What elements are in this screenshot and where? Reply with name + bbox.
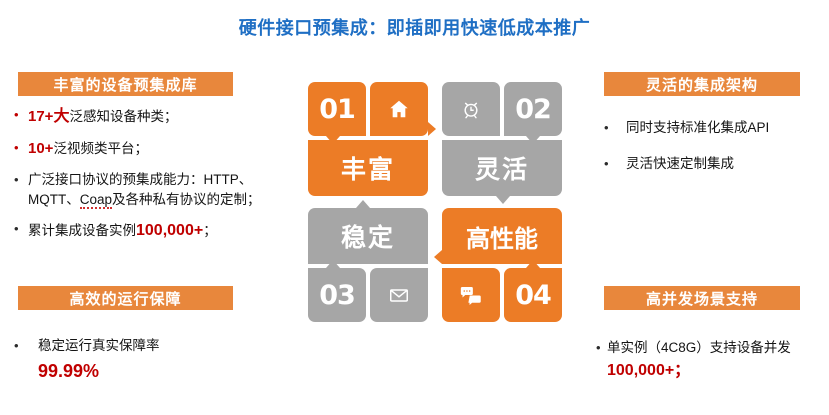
list-item: • 灵活快速定制集成 <box>604 154 824 174</box>
quadrant-02-label-tail <box>496 196 510 204</box>
bullet-marker: • <box>14 219 28 239</box>
list-item: • 单实例（4C8G）支持设备并发100,000+； <box>596 338 828 384</box>
quadrant-01-icon-tail <box>428 122 436 136</box>
quadrant-01-icon-box <box>370 82 428 136</box>
bullet-part: 及各种私有协议的定制； <box>112 192 261 207</box>
quadrant-02-number: 02 <box>515 94 551 125</box>
quadrant-04-icon-box <box>442 268 500 322</box>
center-diagram: 01 丰富 <box>300 82 572 322</box>
panel-header-bottom-left: 高效的运行保障 <box>18 286 233 310</box>
chat-bubbles-icon <box>460 285 482 305</box>
quadrant-04-label-tail <box>434 250 442 264</box>
bullet-part: 累计集成设备实例 <box>28 223 136 238</box>
quadrant-04-label: 高性能 <box>466 219 538 254</box>
bullet-part-misspelled: Coap <box>80 192 112 209</box>
quadrant-04-number-box: 04 <box>504 268 562 322</box>
panel-header-bottom-right: 高并发场景支持 <box>604 286 800 310</box>
quadrant-04-number-tail <box>526 260 540 268</box>
bullet-part: 泛感知设备种类； <box>69 109 177 124</box>
bullet-part: 100,000+ <box>136 222 203 239</box>
bullet-marker: • <box>604 118 626 138</box>
page-title: 硬件接口预集成：即插即用快速低成本推广 <box>0 14 829 40</box>
list-item: • 稳定运行真实保障率99.99% <box>14 336 286 385</box>
bullet-part: 泛视频类平台； <box>53 141 148 156</box>
bullet-marker: • <box>596 338 607 358</box>
bullet-part: 大 <box>53 108 69 125</box>
stat-value: 99.99% <box>38 358 286 385</box>
quadrant-03-number: 03 <box>319 280 355 311</box>
quadrant-02-label: 灵活 <box>475 150 529 186</box>
list-item: • 同时支持标准化集成API <box>604 118 824 138</box>
quadrant-01-number-box: 01 <box>308 82 366 136</box>
bullet-marker: • <box>604 154 626 174</box>
envelope-icon <box>388 284 410 306</box>
list-item: • 17+大泛感知设备种类； <box>14 105 286 129</box>
bullet-text: 累计集成设备实例100,000+； <box>28 219 286 243</box>
list-item: • 累计集成设备实例100,000+； <box>14 219 286 243</box>
bullet-part: 100,000+； <box>607 362 690 379</box>
bullet-marker: • <box>14 170 28 190</box>
bullet-list-top-right: • 同时支持标准化集成API • 灵活快速定制集成 <box>604 118 824 184</box>
bullet-text: 10+泛视频类平台； <box>28 138 286 161</box>
bullet-marker: • <box>14 105 28 125</box>
bullet-list-bottom-right: • 单实例（4C8G）支持设备并发100,000+； <box>596 338 828 393</box>
quadrant-03-label: 稳定 <box>341 218 395 254</box>
bullet-text: 单实例（4C8G）支持设备并发100,000+； <box>607 338 828 384</box>
quadrant-02-icon-box <box>442 82 500 136</box>
bullet-part: 单实例（4C8G）支持设备并发 <box>607 340 791 355</box>
bullet-list-bottom-left: • 稳定运行真实保障率99.99% <box>14 336 286 394</box>
slide-canvas: 硬件接口预集成：即插即用快速低成本推广 丰富的设备预集成库 • 17+大泛感知设… <box>0 0 829 415</box>
quadrant-03-label-box: 稳定 <box>308 208 428 264</box>
quadrant-01-label: 丰富 <box>341 150 395 186</box>
quadrant-03-label-tail <box>356 200 370 208</box>
quadrant-04-label-box: 高性能 <box>442 208 562 264</box>
list-item: • 10+泛视频类平台； <box>14 138 286 161</box>
bullet-text: 17+大泛感知设备种类； <box>28 105 286 129</box>
panel-header-top-right: 灵活的集成架构 <box>604 72 800 96</box>
quadrant-02-label-box: 灵活 <box>442 140 562 196</box>
bullet-part: 稳定运行真实保障率 <box>38 338 160 353</box>
bullet-text: 广泛接口协议的预集成能力：HTTP、MQTT、Coap及各种私有协议的定制； <box>28 170 286 211</box>
bullet-marker: • <box>14 336 38 356</box>
quadrant-04-number: 04 <box>515 280 551 311</box>
bullet-text: 稳定运行真实保障率99.99% <box>38 336 286 385</box>
bullet-part: ； <box>203 223 217 238</box>
bullet-part: 10+ <box>28 140 53 157</box>
list-item: • 广泛接口协议的预集成能力：HTTP、MQTT、Coap及各种私有协议的定制； <box>14 170 286 211</box>
panel-header-top-left: 丰富的设备预集成库 <box>18 72 233 96</box>
bullet-text: 同时支持标准化集成API <box>626 118 824 138</box>
alarm-clock-icon <box>461 99 481 119</box>
quadrant-01-number: 01 <box>319 94 355 125</box>
bullet-text: 灵活快速定制集成 <box>626 154 824 174</box>
home-icon <box>388 98 410 120</box>
quadrant-03-number-tail <box>326 260 340 268</box>
quadrant-02-number-box: 02 <box>504 82 562 136</box>
quadrant-03-icon-box <box>370 268 428 322</box>
quadrant-01-label-box: 丰富 <box>308 140 428 196</box>
bullet-marker: • <box>14 138 28 158</box>
quadrant-03-number-box: 03 <box>308 268 366 322</box>
bullet-list-top-left: • 17+大泛感知设备种类； • 10+泛视频类平台； • 广泛接口协议的预集成… <box>14 105 286 252</box>
bullet-part: 17+ <box>28 108 53 125</box>
